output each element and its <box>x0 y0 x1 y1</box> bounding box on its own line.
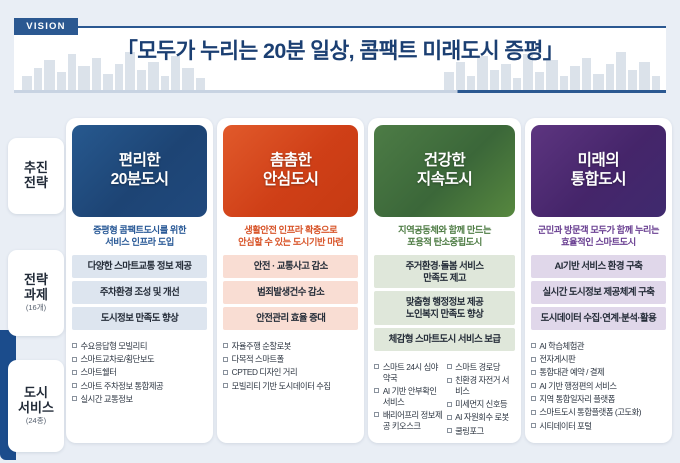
city-service-item[interactable]: CPTED 디자인 거리 <box>223 367 358 378</box>
strategy-card-line1: 미래의 <box>578 152 620 171</box>
rail-label-service: 도시 서비스 (24종) <box>8 360 64 452</box>
city-service-label: 쿨링포그 <box>455 426 515 437</box>
city-service-label: 스마트도시 통합플랫폼 (고도화) <box>539 407 666 418</box>
checkbox-icon[interactable] <box>374 364 379 369</box>
city-service-item[interactable]: AI 기반 안부확인 서비스 <box>374 386 442 408</box>
checkbox-icon[interactable] <box>531 383 536 388</box>
city-service-list: AI 학습체험관전자게시판통합대관 예약 / 결제AI 기반 행정편의 서비스지… <box>531 339 666 437</box>
strategy-subtitle: 지역공동체와 함께 만드는포용적 탄소중립도시 <box>376 224 513 249</box>
rail-task-count: (16개) <box>26 304 46 313</box>
city-service-item[interactable]: 수요응답형 모빌리티 <box>72 341 207 352</box>
checkbox-icon[interactable] <box>223 357 228 362</box>
strategy-column-sustainable-city[interactable]: 건강한지속도시지역공동체와 함께 만드는포용적 탄소중립도시주거환경·돌봄 서비… <box>368 118 521 443</box>
strategy-subtitle-line1: 생활안전 인프라 확충으로 <box>225 224 356 236</box>
city-service-label: 배리어프리 정보제공 키오스크 <box>383 410 443 432</box>
city-service-label: 스마트교차로/횡단보도 <box>81 354 208 365</box>
checkbox-icon[interactable] <box>447 364 452 369</box>
city-service-sublist-left: 수요응답형 모빌리티스마트교차로/횡단보도스마트쉘터스마트 주차정보 통합제공실… <box>72 341 207 437</box>
city-service-item[interactable]: 자율주행 순찰로봇 <box>223 341 358 352</box>
city-service-sublist-right: 스마트 경로당친환경 자전거 서비스미세먼지 신호등AI 자원회수 로봇쿨링포그 <box>447 362 515 437</box>
strategy-subtitle-line1: 지역공동체와 함께 만드는 <box>376 224 513 236</box>
city-service-item[interactable]: 모빌리티 기반 도시데이터 수집 <box>223 381 358 392</box>
city-service-item[interactable]: 미세먼지 신호등 <box>447 399 515 410</box>
strategy-card-convenient-20min-city[interactable]: 편리한20분도시 <box>72 125 207 217</box>
checkbox-icon[interactable] <box>374 412 379 417</box>
city-service-list: 스마트 24시 심야약국AI 기반 안부확인 서비스배리어프리 정보제공 키오스… <box>374 360 515 437</box>
city-service-item[interactable]: AI 기반 행정편의 서비스 <box>531 381 666 392</box>
strategy-subtitle-line2: 포용적 탄소중립도시 <box>376 236 513 248</box>
checkbox-icon[interactable] <box>447 428 452 433</box>
strategy-subtitle: 생활안전 인프라 확충으로안심할 수 있는 도시기반 마련 <box>225 224 356 249</box>
strategy-task-list: AI기반 서비스 환경 구축실시간 도시정보 제공체계 구축도시데이터 수집·연… <box>531 255 666 330</box>
page-title: 「모두가 누리는 20분 일상, 콤팩트 미래도시 증평」 <box>0 34 680 65</box>
strategy-card-sustainable-city[interactable]: 건강한지속도시 <box>374 125 515 217</box>
city-service-item[interactable]: 스마트도시 통합플랫폼 (고도화) <box>531 407 666 418</box>
strategy-card-line2: 20분도시 <box>111 171 169 190</box>
city-service-item[interactable]: 시티데이터 포털 <box>531 421 666 432</box>
city-service-item[interactable]: AI 자원회수 로봇 <box>447 412 515 423</box>
strategy-task-item[interactable]: AI기반 서비스 환경 구축 <box>531 255 666 278</box>
city-service-label: AI 학습체험관 <box>539 341 666 352</box>
strategy-card-line1: 촘촘한 <box>270 152 312 171</box>
strategy-subtitle-line2: 효율적인 스마트도시 <box>533 236 664 248</box>
city-service-sublist-left: AI 학습체험관전자게시판통합대관 예약 / 결제AI 기반 행정편의 서비스지… <box>531 341 666 437</box>
strategy-subtitle: 증평형 콤팩트도시를 위한서비스 인프라 도입 <box>74 224 205 249</box>
city-service-label: 지역 통합일자리 플랫폼 <box>539 394 666 405</box>
strategy-task-item[interactable]: 주차환경 조성 및 개선 <box>72 281 207 304</box>
city-service-item[interactable]: 통합대관 예약 / 결제 <box>531 367 666 378</box>
strategy-card-safe-city[interactable]: 촘촘한안심도시 <box>223 125 358 217</box>
vision-slide: VISION 「모두가 누리는 20분 일상, 콤팩트 미래도시 증평」 추진 … <box>0 0 680 463</box>
city-service-item[interactable]: 실시간 교통정보 <box>72 394 207 405</box>
checkbox-icon[interactable] <box>223 383 228 388</box>
strategy-task-item[interactable]: 주거환경·돌봄 서비스만족도 제고 <box>374 255 515 289</box>
city-service-label: 실시간 교통정보 <box>81 394 208 405</box>
strategy-task-item[interactable]: 도시정보 만족도 향상 <box>72 307 207 330</box>
city-service-label: AI 자원회수 로봇 <box>455 412 515 423</box>
checkbox-icon[interactable] <box>447 415 452 420</box>
city-service-item[interactable]: 스마트교차로/횡단보도 <box>72 354 207 365</box>
city-service-label: 스마트쉘터 <box>81 367 208 378</box>
checkbox-icon[interactable] <box>531 343 536 348</box>
city-service-label: AI 기반 안부확인 서비스 <box>383 386 443 408</box>
strategy-task-list: 안전 · 교통사고 감소범죄발생건수 감소안전관리 효율 증대 <box>223 255 358 330</box>
strategy-task-item[interactable]: 체감형 스마트도시 서비스 보급 <box>374 328 515 351</box>
city-service-item[interactable]: 스마트 주차정보 통합제공 <box>72 381 207 392</box>
rail-service-line2: 서비스 <box>18 401 54 416</box>
city-service-item[interactable]: 배리어프리 정보제공 키오스크 <box>374 410 442 432</box>
strategy-column-integrated-future-city[interactable]: 미래의통합도시군민과 방문객 모두가 함께 누리는효율적인 스마트도시AI기반 … <box>525 118 672 443</box>
rail-label-task: 전략 과제 (16개) <box>8 250 64 336</box>
city-service-sublist-left: 스마트 24시 심야약국AI 기반 안부확인 서비스배리어프리 정보제공 키오스… <box>374 362 442 437</box>
city-service-item[interactable]: 다목적 스마트폴 <box>223 354 358 365</box>
strategy-card-line1: 편리한 <box>119 152 161 171</box>
city-service-list: 자율주행 순찰로봇다목적 스마트폴CPTED 디자인 거리모빌리티 기반 도시데… <box>223 339 358 437</box>
rail-label-strategy: 추진 전략 <box>8 138 64 214</box>
city-service-label: 스마트 경로당 <box>455 362 515 373</box>
strategy-card-line2: 통합도시 <box>571 171 626 190</box>
city-service-item[interactable]: 스마트 24시 심야약국 <box>374 362 442 384</box>
city-service-label: 전자게시판 <box>539 354 666 365</box>
strategy-subtitle-line2: 안심할 수 있는 도시기반 마련 <box>225 236 356 248</box>
checkbox-icon[interactable] <box>223 370 228 375</box>
city-service-label: 통합대관 예약 / 결제 <box>539 367 666 378</box>
rail-strategy-line2: 전략 <box>24 176 48 191</box>
checkbox-icon[interactable] <box>72 370 77 375</box>
city-service-label: 스마트 주차정보 통합제공 <box>81 381 208 392</box>
strategy-task-item[interactable]: 맞춤형 행정정보 제공노인복지 만족도 향상 <box>374 291 515 325</box>
checkbox-icon[interactable] <box>72 343 77 348</box>
city-service-item[interactable]: 친환경 자전거 서비스 <box>447 375 515 397</box>
checkbox-icon[interactable] <box>447 402 452 407</box>
city-service-item[interactable]: 전자게시판 <box>531 354 666 365</box>
city-service-label: 스마트 24시 심야약국 <box>383 362 443 384</box>
checkbox-icon[interactable] <box>447 378 452 383</box>
rail-service-count: (24종) <box>26 417 46 426</box>
strategy-task-list: 주거환경·돌봄 서비스만족도 제고맞춤형 행정정보 제공노인복지 만족도 향상체… <box>374 255 515 351</box>
rail-task-line1: 전략 <box>24 273 48 288</box>
strategy-task-item[interactable]: 안전관리 효율 증대 <box>223 307 358 330</box>
strategy-task-item[interactable]: 범죄발생건수 감소 <box>223 281 358 304</box>
strategy-task-item[interactable]: 실시간 도시정보 제공체계 구축 <box>531 281 666 304</box>
checkbox-icon[interactable] <box>72 396 77 401</box>
strategy-subtitle-line1: 군민과 방문객 모두가 함께 누리는 <box>533 224 664 236</box>
city-service-item[interactable]: AI 학습체험관 <box>531 341 666 352</box>
checkbox-icon[interactable] <box>531 396 536 401</box>
strategy-subtitle-line1: 증평형 콤팩트도시를 위한 <box>74 224 205 236</box>
city-service-label: CPTED 디자인 거리 <box>232 367 359 378</box>
rail-strategy-line1: 추진 <box>24 161 48 176</box>
city-service-label: 미세먼지 신호등 <box>455 399 515 410</box>
checkbox-icon[interactable] <box>531 357 536 362</box>
strategy-card-integrated-future-city[interactable]: 미래의통합도시 <box>531 125 666 217</box>
city-service-label: 자율주행 순찰로봇 <box>232 341 359 352</box>
checkbox-icon[interactable] <box>374 388 379 393</box>
checkbox-icon[interactable] <box>531 423 536 428</box>
city-service-label: 시티데이터 포털 <box>539 421 666 432</box>
rail-service-line1: 도시 <box>24 386 48 401</box>
strategy-columns: 편리한20분도시증평형 콤팩트도시를 위한서비스 인프라 도입다양한 스마트교통… <box>66 118 672 443</box>
strategy-subtitle: 군민과 방문객 모두가 함께 누리는효율적인 스마트도시 <box>533 224 664 249</box>
checkbox-icon[interactable] <box>72 357 77 362</box>
strategy-task-item[interactable]: 도시데이터 수집·연계·분석·활용 <box>531 307 666 330</box>
checkbox-icon[interactable] <box>223 343 228 348</box>
strategy-task-item[interactable]: 안전 · 교통사고 감소 <box>223 255 358 278</box>
strategy-subtitle-line2: 서비스 인프라 도입 <box>74 236 205 248</box>
city-service-item[interactable]: 스마트 경로당 <box>447 362 515 373</box>
rail-task-line2: 과제 <box>24 288 48 303</box>
checkbox-icon[interactable] <box>531 410 536 415</box>
checkbox-icon[interactable] <box>72 383 77 388</box>
city-service-label: 친환경 자전거 서비스 <box>455 375 515 397</box>
strategy-card-line2: 안심도시 <box>263 171 318 190</box>
city-service-label: 수요응답형 모빌리티 <box>81 341 208 352</box>
strategy-card-line2: 지속도시 <box>417 171 472 190</box>
strategy-task-list: 다양한 스마트교통 정보 제공주차환경 조성 및 개선도시정보 만족도 향상 <box>72 255 207 330</box>
header-underline <box>14 90 666 93</box>
city-service-item[interactable]: 지역 통합일자리 플랫폼 <box>531 394 666 405</box>
vision-badge: VISION <box>14 18 78 35</box>
strategy-card-line1: 건강한 <box>424 152 466 171</box>
city-service-item[interactable]: 스마트쉘터 <box>72 367 207 378</box>
city-service-label: AI 기반 행정편의 서비스 <box>539 381 666 392</box>
city-service-label: 모빌리티 기반 도시데이터 수집 <box>232 381 359 392</box>
city-service-item[interactable]: 쿨링포그 <box>447 426 515 437</box>
city-service-sublist-left: 자율주행 순찰로봇다목적 스마트폴CPTED 디자인 거리모빌리티 기반 도시데… <box>223 341 358 437</box>
strategy-column-safe-city[interactable]: 촘촘한안심도시생활안전 인프라 확충으로안심할 수 있는 도시기반 마련안전 ·… <box>217 118 364 443</box>
strategy-task-item[interactable]: 다양한 스마트교통 정보 제공 <box>72 255 207 278</box>
city-service-list: 수요응답형 모빌리티스마트교차로/횡단보도스마트쉘터스마트 주차정보 통합제공실… <box>72 339 207 437</box>
city-service-label: 다목적 스마트폴 <box>232 354 359 365</box>
checkbox-icon[interactable] <box>531 370 536 375</box>
strategy-column-convenient-20min-city[interactable]: 편리한20분도시증평형 콤팩트도시를 위한서비스 인프라 도입다양한 스마트교통… <box>66 118 213 443</box>
